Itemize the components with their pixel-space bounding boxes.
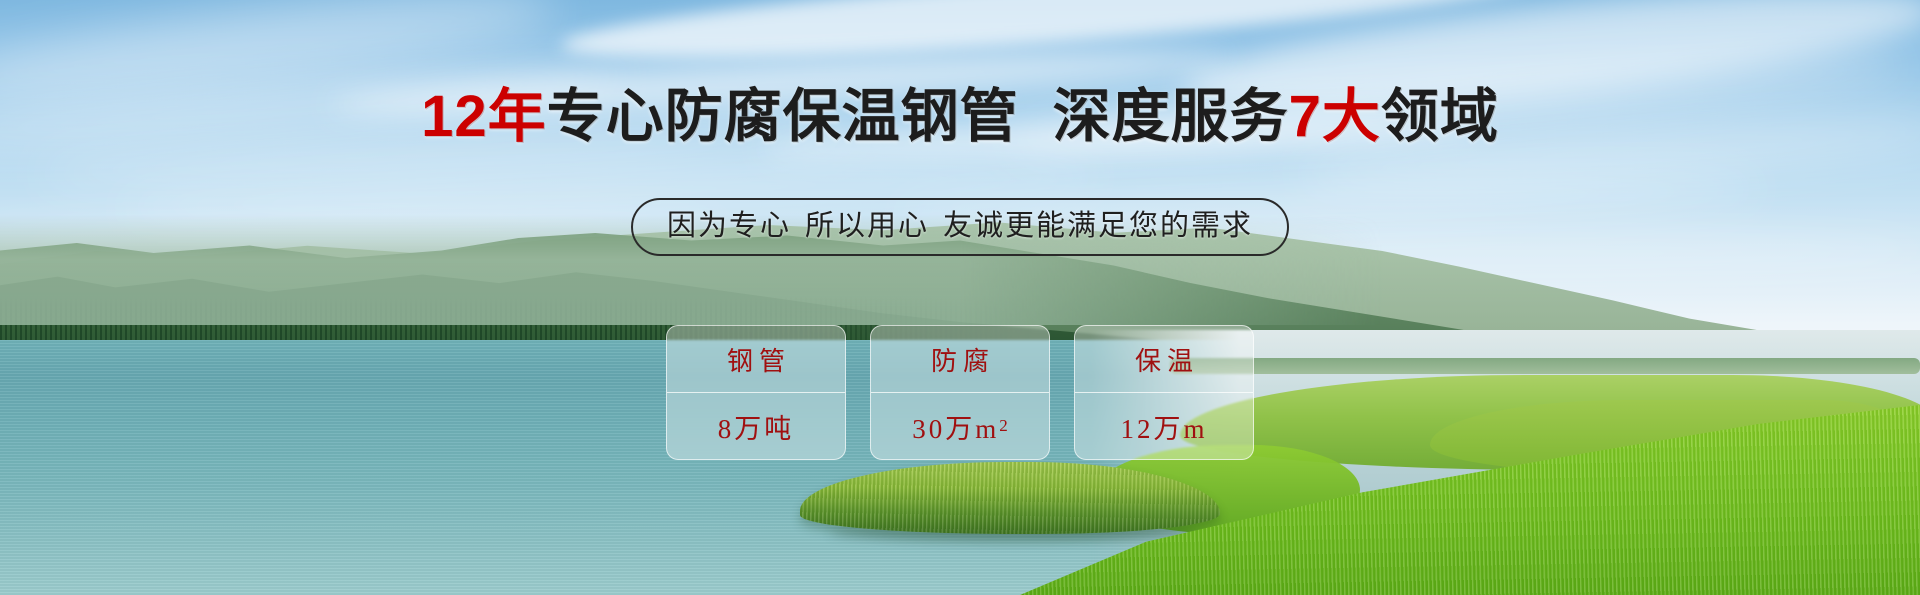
stat-card-insulation[interactable]: 保温 12万m <box>1074 325 1254 460</box>
subtitle-part-3: 友诚更能满足您的需求 <box>943 210 1253 242</box>
headline-service: 深度服务 <box>1053 84 1289 149</box>
promo-banner: 12年专心防腐保温钢管深度服务7大领域 因为专心所以用心友诚更能满足您的需求 钢… <box>0 0 1920 595</box>
subtitle-part-1: 因为专心 <box>667 210 791 242</box>
stat-card-steel-pipe[interactable]: 钢管 8万吨 <box>666 325 846 460</box>
stat-card-value: 30万m2 <box>871 393 1049 459</box>
subtitle-pill: 因为专心所以用心友诚更能满足您的需求 <box>631 198 1289 256</box>
stat-card-value-text: 8万吨 <box>718 407 795 446</box>
banner-headline: 12年专心防腐保温钢管深度服务7大领域 <box>0 86 1920 148</box>
headline-seven-major: 7大 <box>1289 84 1381 149</box>
stat-card-value-text: 30万m <box>912 407 999 446</box>
stat-card-value-superscript: 2 <box>999 416 1008 436</box>
stat-card-value: 12万m <box>1075 393 1253 459</box>
stat-card-label: 钢管 <box>667 326 845 393</box>
stat-card-label: 保温 <box>1075 326 1253 393</box>
stat-card-group: 钢管 8万吨 防腐 30万m2 保温 12万m <box>0 325 1920 460</box>
headline-fields: 领域 <box>1381 84 1499 149</box>
headline-main: 专心防腐保温钢管 <box>547 84 1019 149</box>
stat-card-value-text: 12万m <box>1120 407 1207 446</box>
stat-card-label: 防腐 <box>871 326 1049 393</box>
subtitle-part-2: 所以用心 <box>805 210 929 242</box>
stat-card-value: 8万吨 <box>667 393 845 459</box>
subtitle-row: 因为专心所以用心友诚更能满足您的需求 <box>0 198 1920 256</box>
stat-card-anticorrosion[interactable]: 防腐 30万m2 <box>870 325 1050 460</box>
headline-years: 12年 <box>421 84 547 149</box>
